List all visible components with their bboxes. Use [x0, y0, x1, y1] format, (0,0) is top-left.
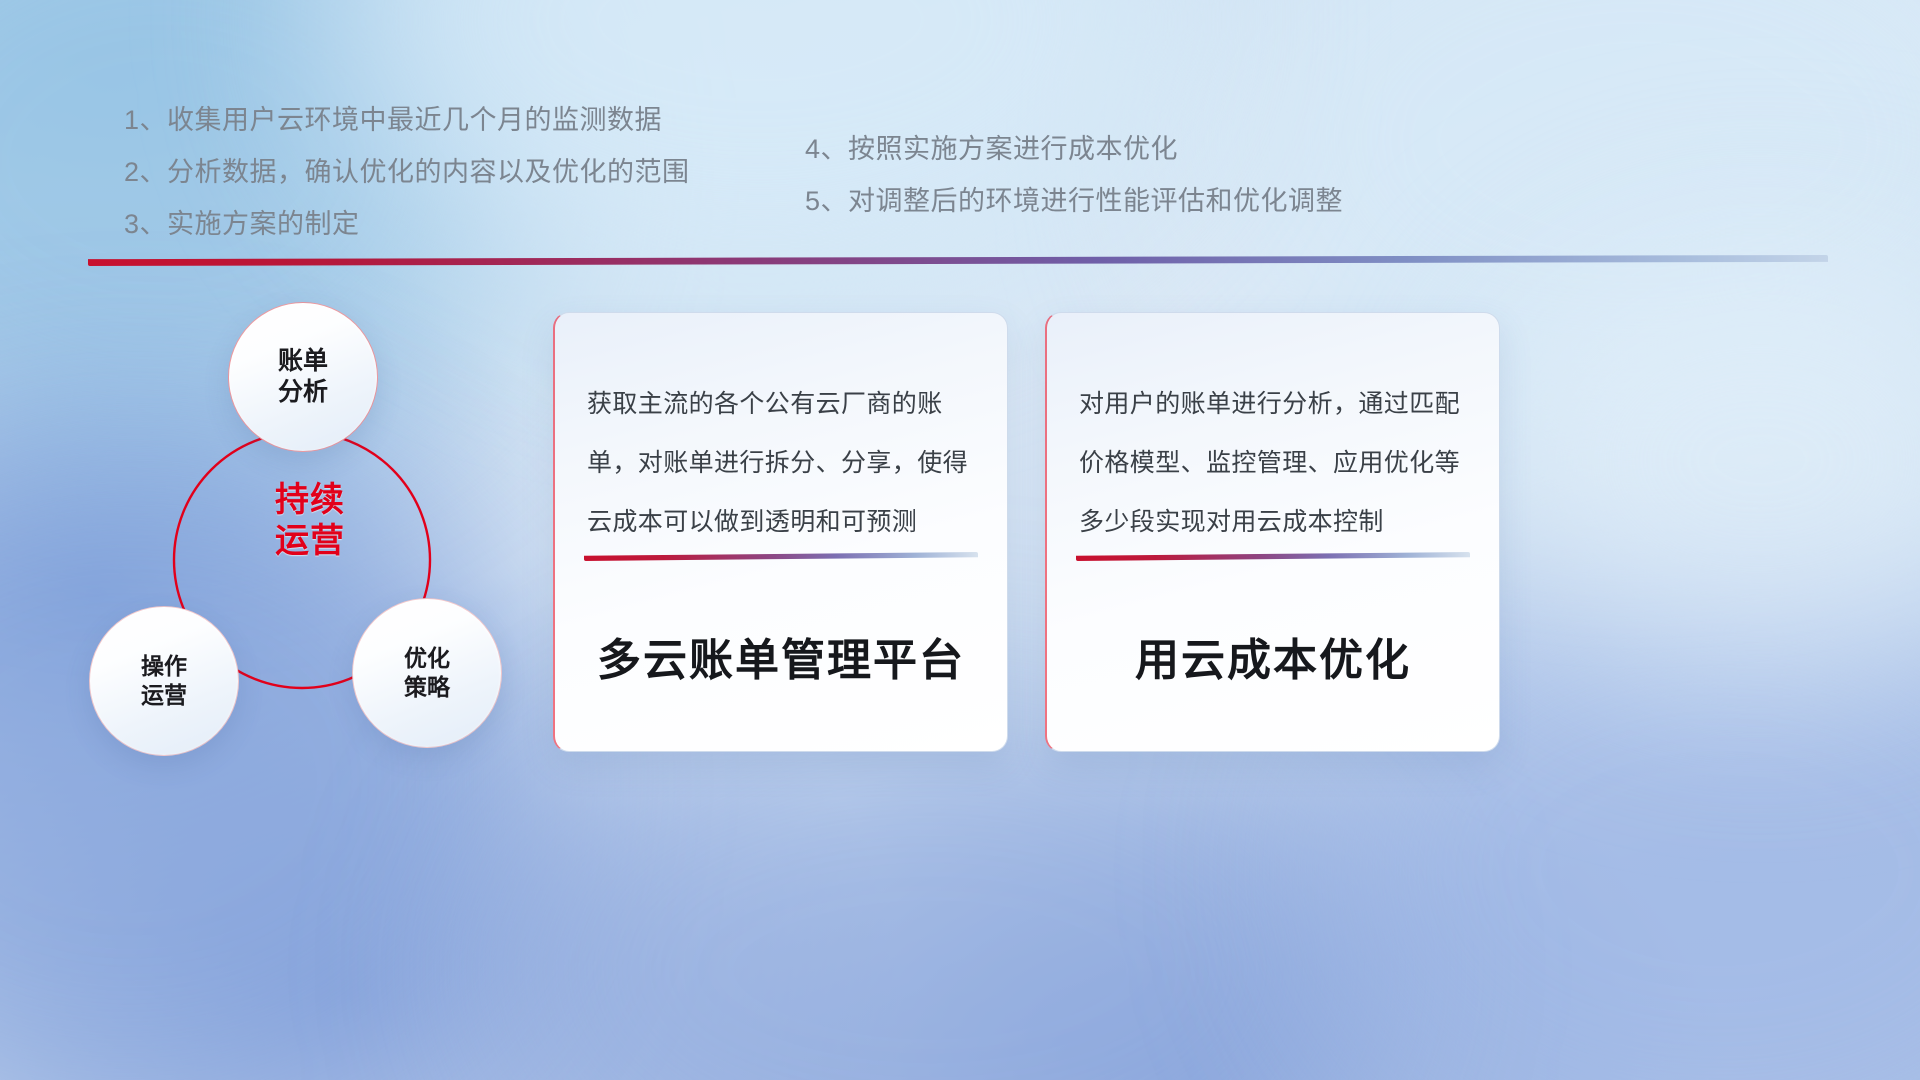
- bubble-bill-analysis[interactable]: 账单 分析: [228, 302, 378, 452]
- card-multi-cloud-billing-title: 多云账单管理平台: [555, 561, 1007, 751]
- center-label-line1: 持续: [230, 480, 390, 521]
- continuous-operations-diagram: 账单 分析 操作 运营 优化 策略 持续 运营: [80, 288, 540, 788]
- bubble-operations[interactable]: 操作 运营: [89, 606, 239, 756]
- bubble-operations-line2: 运营: [141, 681, 187, 710]
- bubble-optimization-line2: 策略: [404, 673, 450, 702]
- center-label-line2: 运营: [230, 521, 390, 562]
- steps-list-left: 1、收集用户云环境中最近几个月的监测数据 2、分析数据，确认优化的内容以及优化的…: [124, 94, 690, 250]
- bubble-optimization-strategy[interactable]: 优化 策略: [352, 598, 502, 748]
- card-cloud-cost-optimization[interactable]: 对用户的账单进行分析，通过匹配价格模型、监控管理、应用优化等多少段实现对用云成本…: [1045, 312, 1500, 752]
- bubble-bill-analysis-line2: 分析: [278, 377, 328, 408]
- card-multi-cloud-billing[interactable]: 获取主流的各个公有云厂商的账单，对账单进行拆分、分享，使得云成本可以做到透明和可…: [553, 312, 1008, 752]
- background-blob: [1480, 240, 1920, 680]
- step-item-5: 5、对调整后的环境进行性能评估和优化调整: [805, 175, 1343, 227]
- step-item-1: 1、收集用户云环境中最近几个月的监测数据: [124, 94, 690, 146]
- card-divider-rule: [584, 552, 978, 561]
- bubble-bill-analysis-line1: 账单: [278, 346, 328, 377]
- bubble-operations-line1: 操作: [141, 652, 187, 681]
- step-item-4: 4、按照实施方案进行成本优化: [805, 123, 1343, 175]
- slide-canvas: 1、收集用户云环境中最近几个月的监测数据 2、分析数据，确认优化的内容以及优化的…: [0, 0, 1920, 1080]
- bubble-optimization-line1: 优化: [404, 644, 450, 673]
- card-multi-cloud-billing-body: 获取主流的各个公有云厂商的账单，对账单进行拆分、分享，使得云成本可以做到透明和可…: [555, 313, 1007, 552]
- step-item-2: 2、分析数据，确认优化的内容以及优化的范围: [124, 146, 690, 198]
- card-cloud-cost-optimization-title: 用云成本优化: [1047, 561, 1499, 751]
- card-cloud-cost-optimization-body: 对用户的账单进行分析，通过匹配价格模型、监控管理、应用优化等多少段实现对用云成本…: [1047, 313, 1499, 552]
- header-divider-rule: [88, 255, 1828, 266]
- steps-list-right: 4、按照实施方案进行成本优化 5、对调整后的环境进行性能评估和优化调整: [805, 123, 1343, 227]
- diagram-center-label: 持续 运营: [230, 480, 390, 563]
- step-item-3: 3、实施方案的制定: [124, 198, 690, 250]
- card-divider-rule: [1076, 552, 1470, 561]
